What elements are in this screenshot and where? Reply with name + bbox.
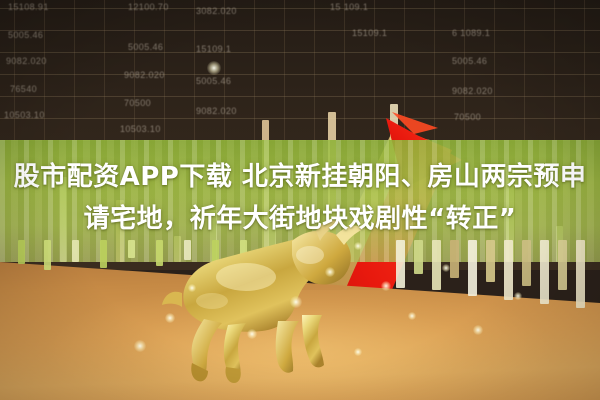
sparkle-3 [354,242,362,250]
lower-bar-15 [504,240,513,300]
sparkle-6 [165,313,175,323]
lower-bar-4 [128,240,135,258]
sparkle-4 [381,281,391,291]
sparkle-9 [442,264,450,272]
sparkle-8 [134,340,146,352]
lower-bar-11 [432,240,441,290]
lower-bar-14 [486,240,495,282]
sparkle-13 [354,348,362,356]
stock-news-banner: 15108.9112100.7015 109.115109.15005.4650… [0,0,600,400]
headline-text: 股市配资APP下载 北京新挂朝阳、房山两宗预申 请宅地，祈年大街地块戏剧性“转正… [0,156,600,240]
sparkle-11 [514,292,522,300]
headline-line-2: 请宅地，祈年大街地块戏剧性“转正” [0,198,600,240]
sparkle-1 [325,267,335,277]
sparkle-0 [207,61,221,75]
lower-bar-12 [450,240,459,278]
golden-bull-statue [150,215,380,385]
lower-bar-16 [522,240,531,286]
lower-bar-9 [396,240,405,288]
sparkle-10 [473,325,483,335]
lower-bar-1 [44,240,51,270]
lower-bar-3 [100,240,107,268]
headline-line-1: 股市配资APP下载 北京新挂朝阳、房山两宗预申 [0,156,600,198]
lower-bar-17 [540,240,549,304]
sparkle-7 [188,284,196,292]
lower-bar-13 [468,240,477,296]
sparkle-2 [290,296,302,308]
lower-bar-19 [576,240,585,308]
sparkle-5 [408,312,416,320]
lower-bar-2 [72,240,79,262]
sparkle-12 [247,329,257,339]
lower-bar-18 [558,240,567,290]
lower-bar-10 [414,240,423,274]
lower-bar-0 [18,240,25,264]
